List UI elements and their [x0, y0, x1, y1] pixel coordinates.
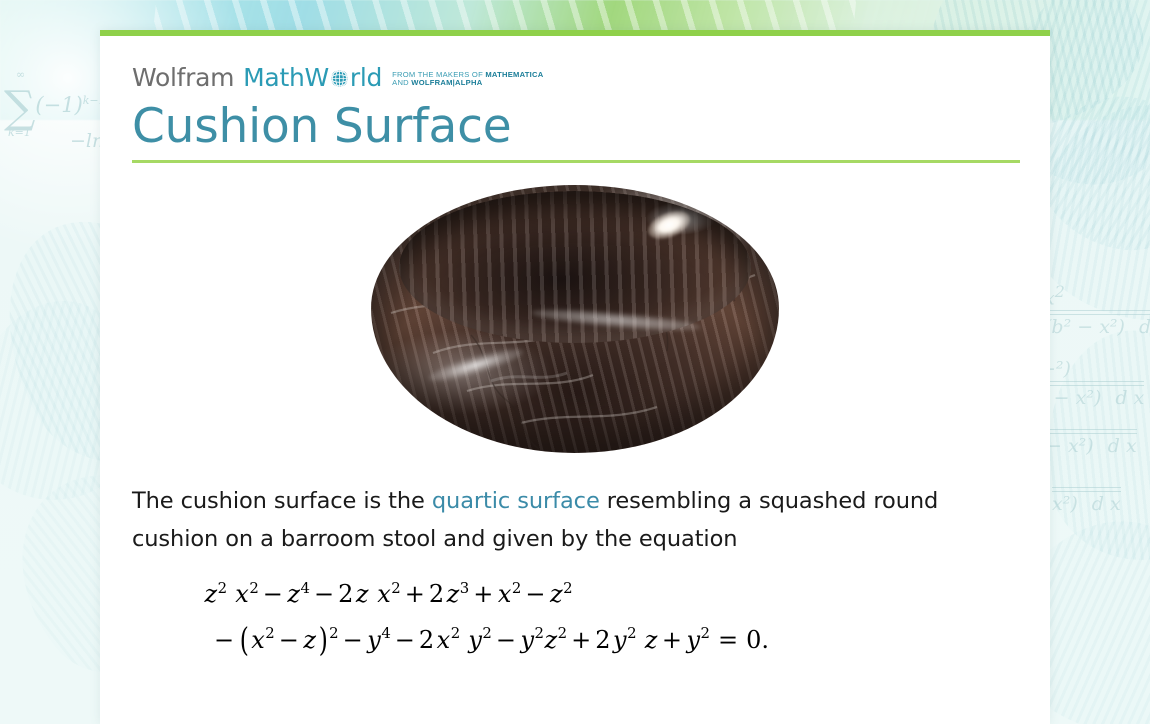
eq-exponent: 2	[627, 625, 636, 643]
logo-wolfram-text: Wolfram	[132, 65, 234, 90]
eq-right-paren: )	[318, 624, 327, 656]
eq-exponent: 2	[451, 625, 460, 643]
eq-exponent: 4	[381, 625, 390, 643]
eq-term: x	[377, 580, 392, 608]
title-underline-rule	[132, 160, 1020, 163]
fraction-bar	[1040, 381, 1144, 386]
eq-left-paren: (	[240, 624, 249, 656]
background-summation-formula: ∞ ∑ k=1 (−1)k−1	[4, 82, 106, 133]
eq-coefficient: 2	[595, 626, 612, 654]
summation-lower-limit: k=1	[8, 126, 31, 139]
logo-tagline: FROM THE MAKERS OF MATHEMATICA AND WOLFR…	[392, 71, 543, 90]
background-fraction-numerator-exponent: 2	[1055, 282, 1065, 301]
cushion-surface-image[interactable]	[371, 181, 779, 456]
equation-block: z2 x2−z4−2z x2+2z3+x2−z2 −(x2−z)2−y4−2x2…	[132, 581, 1018, 656]
summation-term: (−1)	[35, 93, 82, 117]
background-fraction: −²) ² − x²) d x	[1040, 358, 1144, 409]
eq-term: z	[549, 580, 563, 608]
eq-term: x	[497, 580, 512, 608]
eq-coefficient: 2	[338, 580, 355, 608]
eq-term: z	[446, 580, 460, 608]
figure-container	[132, 181, 1018, 456]
eq-operator: −	[310, 580, 338, 608]
eq-term: x	[436, 626, 451, 654]
eq-operator: −	[275, 626, 303, 654]
background-differential: d x	[1084, 493, 1121, 515]
eq-operator: +	[469, 580, 497, 608]
eq-operator: +	[401, 580, 429, 608]
eq-term: z	[303, 626, 317, 654]
eq-exponent: 2	[482, 625, 491, 643]
summation-upper-limit: ∞	[16, 68, 25, 81]
tagline-mathematica: MATHEMATICA	[485, 70, 543, 79]
eq-operator: −	[391, 626, 419, 654]
logo-w-text: W	[305, 65, 329, 90]
eq-term: y	[468, 626, 483, 654]
logo-mathworld-text: MathWrld	[243, 65, 382, 90]
eq-term: y	[613, 626, 628, 654]
eq-exponent: 2	[265, 625, 274, 643]
eq-exponent: 2	[563, 579, 572, 597]
logo-math-text: Math	[243, 65, 304, 90]
tagline-line-1-prefix: FROM THE MAKERS OF	[392, 70, 485, 79]
background-fraction: x²) d x	[1052, 486, 1121, 515]
equation-line-1: z2 x2−z4−2z x2+2z3+x2−z2	[204, 581, 1018, 606]
eq-right-hand-side: 0.	[746, 626, 771, 654]
eq-term: y	[686, 626, 701, 654]
fraction-bar	[1052, 487, 1121, 492]
eq-operator: −	[259, 580, 287, 608]
logo-rld-text: rld	[350, 65, 382, 90]
page-root: ∞ ∑ k=1 (−1)k−1 −ln x2 (b² − x²) d x −²)…	[0, 0, 1150, 724]
link-quartic-surface[interactable]: quartic surface	[432, 488, 600, 514]
eq-operator: +	[567, 626, 595, 654]
tagline-wolfram-alpha: WOLFRAM|ALPHA	[411, 78, 482, 87]
eq-exponent: 2	[391, 579, 400, 597]
background-differential: d x	[1131, 316, 1150, 338]
eq-term: z	[544, 626, 558, 654]
background-fraction: − x²) d x	[1046, 428, 1137, 457]
eq-exponent: 2	[701, 625, 710, 643]
eq-term: z	[287, 580, 301, 608]
body-text-part-1: The cushion surface is the	[132, 488, 432, 514]
eq-term: z	[355, 580, 369, 608]
eq-term: x	[251, 626, 266, 654]
eq-exponent: 2	[535, 625, 544, 643]
eq-term: y	[367, 626, 382, 654]
background-differential: d x	[1107, 387, 1144, 409]
background-fraction-denominator: − x²)	[1046, 435, 1094, 457]
tagline-line-2: AND WOLFRAM|ALPHA	[392, 79, 543, 88]
eq-equals-sign: =	[710, 626, 746, 654]
eq-exponent: 2	[249, 579, 258, 597]
site-logo[interactable]: Wolfram MathWrld FROM THE MAKERS OF MATH…	[132, 36, 1018, 90]
eq-term: x	[235, 580, 250, 608]
page-title: Cushion Surface	[132, 100, 1018, 154]
eq-term: y	[520, 626, 535, 654]
background-differential: d x	[1100, 435, 1137, 457]
body-paragraph: The cushion surface is the quartic surfa…	[132, 482, 1012, 559]
background-fraction: x2 (b² − x²) d x	[1044, 282, 1150, 338]
eq-operator: −	[210, 626, 238, 654]
eq-exponent: 2	[329, 625, 338, 643]
eq-exponent: 3	[460, 579, 469, 597]
eq-operator: −	[339, 626, 367, 654]
eq-exponent: 2	[512, 579, 521, 597]
fraction-bar	[1044, 310, 1150, 315]
eq-operator: +	[658, 626, 686, 654]
background-fraction-denominator: (b² − x²)	[1044, 316, 1125, 338]
content-card: Wolfram MathWrld FROM THE MAKERS OF MATH…	[100, 30, 1050, 724]
eq-exponent: 4	[301, 579, 310, 597]
eq-operator: −	[492, 626, 520, 654]
eq-coefficient: 2	[429, 580, 446, 608]
eq-coefficient: 2	[419, 626, 436, 654]
eq-exponent: 2	[218, 579, 227, 597]
fraction-bar	[1046, 429, 1137, 434]
background-fraction-denominator: x²)	[1052, 493, 1078, 515]
eq-term: z	[204, 580, 218, 608]
equation-line-2: −(x2−z)2−y4−2x2 y2−y2z2+2y2 z+y2=0.	[204, 624, 1018, 656]
globe-icon	[330, 67, 349, 86]
tagline-line-2-prefix: AND	[392, 78, 411, 87]
eq-operator: −	[521, 580, 549, 608]
eq-term: z	[644, 626, 658, 654]
eq-exponent: 2	[558, 625, 567, 643]
